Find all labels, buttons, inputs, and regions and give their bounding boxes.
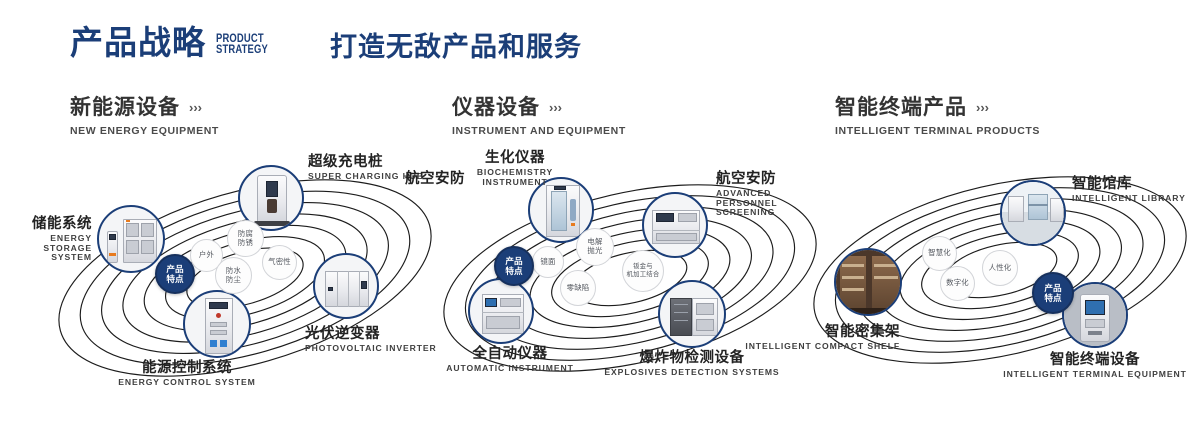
section-heading-cn: 新能源设备 xyxy=(70,97,180,118)
bubble-line1: 人性化 xyxy=(989,263,1012,272)
node-explosives-detection-systems[interactable] xyxy=(658,280,726,348)
caption-cn: 航空安防 xyxy=(385,171,465,187)
intelligent-library-photo xyxy=(1002,182,1064,244)
node-advanced-personnel-screening[interactable] xyxy=(642,192,708,258)
bubble-line1: 户外 xyxy=(199,250,214,259)
caption-intelligent-compact-shelf: 智能密集架 INTELLIGENT COMPACT SHELF xyxy=(740,324,900,352)
chevron-right-icon: ››› xyxy=(189,101,202,114)
caption-en: AUTOMATIC INSTRUMENT xyxy=(400,364,620,374)
caption-cn: 超级充电桩 xyxy=(308,154,424,170)
section-heading-cn: 仪器设备 xyxy=(452,97,540,118)
page-title-en-line2: STRATEGY xyxy=(216,45,268,57)
caption-biochemistry-instrument: 生化仪器 BIOCHEMISTRY INSTRUMENT xyxy=(460,150,570,187)
node-automatic-instrument[interactable] xyxy=(468,278,534,344)
bubble-line1: 钣金与 xyxy=(633,263,653,270)
automatic-instrument-photo xyxy=(470,280,532,342)
caption-cn: 智能终端设备 xyxy=(985,352,1200,368)
badge-line2: 特点 xyxy=(505,266,522,276)
caption-en: INTELLIGENT TERMINAL EQUIPMENT xyxy=(985,370,1200,380)
node-intelligent-library[interactable] xyxy=(1000,180,1066,246)
page-title-en-line1: PRODUCT xyxy=(216,34,268,46)
feature-bubble-digital: 数字化 xyxy=(940,266,975,301)
feature-bubble-mirror-finish: 镜面 xyxy=(532,246,564,278)
bubble-line2: 防尘 xyxy=(226,275,241,284)
badge-line1: 产品 xyxy=(1044,283,1061,293)
bubble-line2: 机加工结合 xyxy=(627,271,660,278)
node-intelligent-compact-shelf[interactable] xyxy=(834,248,902,316)
feature-bubble-zero-defect: 零缺陷 xyxy=(560,270,596,306)
node-photovoltaic-inverter[interactable] xyxy=(313,253,379,319)
caption-cn: 生化仪器 xyxy=(460,150,570,166)
node-energy-control-system[interactable] xyxy=(183,290,251,358)
advanced-personnel-screening-photo xyxy=(644,194,706,256)
chevron-right-icon: ››› xyxy=(549,101,562,114)
bubble-line1: 智慧化 xyxy=(928,248,951,257)
caption-automatic-instrument: 全自动仪器 AUTOMATIC INSTRUMENT xyxy=(400,346,620,374)
caption-cn: 智能馆库 xyxy=(1072,176,1186,192)
section-heading-cn: 智能终端产品 xyxy=(835,97,967,118)
feature-bubble-electropolishing: 电解抛光 xyxy=(576,228,614,266)
section-heading-instrument: 仪器设备 ››› INSTRUMENT AND EQUIPMENT xyxy=(452,97,626,137)
badge-line1: 产品 xyxy=(166,264,183,274)
feature-bubble-humanized: 人性化 xyxy=(982,250,1018,286)
bubble-line1: 防水 xyxy=(226,266,241,275)
section-heading-en: INTELLIGENT TERMINAL PRODUCTS xyxy=(835,125,1040,137)
page-subtitle: 打造无敌产品和服务 xyxy=(330,34,582,61)
badge-line1: 产品 xyxy=(505,256,522,266)
feature-bubble-airtightness: 气密性 xyxy=(262,245,297,280)
caption-intelligent-terminal-equipment: 智能终端设备 INTELLIGENT TERMINAL EQUIPMENT xyxy=(985,352,1200,380)
bubble-line1: 镜面 xyxy=(540,257,555,266)
section-heading-en: INSTRUMENT AND EQUIPMENT xyxy=(452,125,626,137)
feature-bubble-anti-corrosion: 防腐防锈 xyxy=(227,220,264,257)
caption-cn: 能源控制系统 xyxy=(77,360,297,376)
section-heading-en: NEW ENERGY EQUIPMENT xyxy=(70,125,219,137)
page-title: 产品战略 PRODUCT STRATEGY xyxy=(70,26,279,59)
bubble-line2: 抛光 xyxy=(587,246,602,255)
bubble-line1: 零缺陷 xyxy=(567,283,590,292)
caption-energy-storage-system: 储能系统 ENERGY STORAGE SYSTEM xyxy=(0,216,92,263)
bubble-line1: 气密性 xyxy=(268,257,291,266)
caption-intelligent-library: 智能馆库 INTELLIGENT LIBRARY xyxy=(1072,176,1186,204)
section-heading-intelligent-terminal: 智能终端产品 ››› INTELLIGENT TERMINAL PRODUCTS xyxy=(835,97,1040,137)
product-feature-badge: 产品特点 xyxy=(1032,272,1074,314)
caption-cn: 光伏逆变器 xyxy=(305,326,437,342)
caption-aviation-security-left: 航空安防 xyxy=(385,171,465,187)
bubble-line2: 防锈 xyxy=(238,238,253,247)
caption-en: BIOCHEMISTRY INSTRUMENT xyxy=(460,168,570,187)
feature-bubble-sheet-metal-machining: 钣金与机加工结合 xyxy=(622,250,664,292)
bubble-line1: 数字化 xyxy=(946,278,969,287)
node-energy-storage-system[interactable] xyxy=(97,205,165,273)
caption-cn: 储能系统 xyxy=(0,216,92,232)
page-title-en: PRODUCT STRATEGY xyxy=(216,34,268,57)
photovoltaic-inverter-photo xyxy=(315,255,377,317)
product-feature-badge: 产品特点 xyxy=(155,254,195,294)
caption-energy-control-system: 能源控制系统 ENERGY CONTROL SYSTEM xyxy=(77,360,297,388)
caption-en: ENERGY CONTROL SYSTEM xyxy=(77,378,297,388)
section-heading-new-energy: 新能源设备 ››› NEW ENERGY EQUIPMENT xyxy=(70,97,219,137)
energy-control-system-photo xyxy=(185,292,249,356)
caption-en: INTELLIGENT COMPACT SHELF xyxy=(740,342,900,352)
feature-bubble-waterproof: 防水防尘 xyxy=(215,257,252,294)
poster-canvas: 产品战略 PRODUCT STRATEGY 打造无敌产品和服务 新能源设备 ››… xyxy=(0,0,1200,422)
caption-cn: 全自动仪器 xyxy=(400,346,620,362)
product-feature-badge: 产品特点 xyxy=(494,246,534,286)
explosives-detection-systems-photo xyxy=(660,282,724,346)
intelligent-compact-shelf-photo xyxy=(836,250,900,314)
cluster-new-energy: 储能系统 ENERGY STORAGE SYSTEM 超级充电桩 SUPER C… xyxy=(45,150,445,410)
chevron-right-icon: ››› xyxy=(976,101,989,114)
bubble-line1: 防腐 xyxy=(238,229,253,238)
bubble-line1: 电解 xyxy=(587,237,602,246)
badge-line2: 特点 xyxy=(166,274,183,284)
energy-storage-system-photo xyxy=(99,207,163,271)
cluster-instrument: 生化仪器 BIOCHEMISTRY INSTRUMENT 航空安防 航空安防 A… xyxy=(430,150,830,410)
caption-cn: 智能密集架 xyxy=(740,324,900,340)
cluster-intelligent-terminal: 智能馆库 INTELLIGENT LIBRARY 智能密集架 INTELLIGE… xyxy=(800,150,1200,410)
page-title-cn: 产品战略 xyxy=(70,26,206,59)
caption-en: INTELLIGENT LIBRARY xyxy=(1072,194,1186,204)
caption-en: ENERGY STORAGE SYSTEM xyxy=(0,234,92,263)
badge-line2: 特点 xyxy=(1044,293,1061,303)
